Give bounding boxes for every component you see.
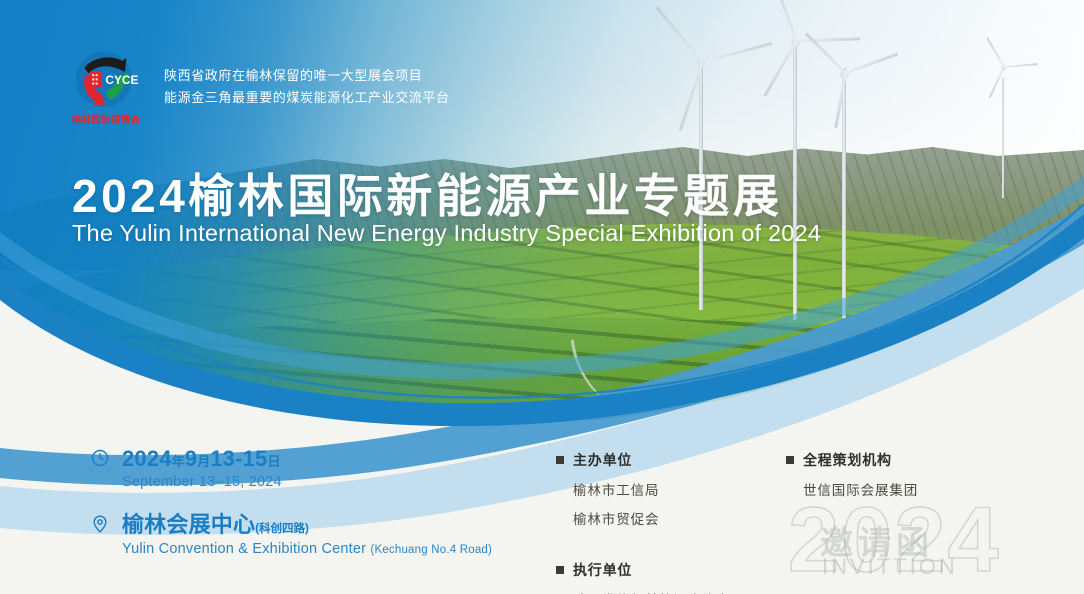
org-group: 主办单位 榆林市工信局 榆林市贸促会 bbox=[556, 450, 766, 528]
org-group: 全程策划机构 世信国际会展集团 bbox=[786, 450, 1006, 499]
org-item: 世信国际会展集团 bbox=[803, 479, 1006, 499]
taglines: 陕西省政府在榆林保留的唯一大型展会项目 能源金三角最重要的煤炭能源化工产业交流平… bbox=[164, 64, 450, 107]
org-item: 陕西世信朗普能源咨询有限公司 bbox=[573, 589, 766, 594]
date-year: 2024 bbox=[122, 446, 172, 471]
org-column-planner: 全程策划机构 世信国际会展集团 bbox=[786, 450, 1006, 499]
logo-sub-label: 榆林国际煤博会 bbox=[66, 112, 146, 126]
org-column-organizers: 主办单位 榆林市工信局 榆林市贸促会 执行单位 陕西世信朗普能源咨询有限公司 bbox=[556, 450, 766, 594]
clock-icon bbox=[90, 448, 110, 468]
org-group: 执行单位 陕西世信朗普能源咨询有限公司 bbox=[556, 560, 766, 594]
cyce-logo: CYCE 榆林国际煤博会 bbox=[66, 44, 148, 126]
venue-text: 榆林会展中心(科创四路) Yulin Convention & Exhibiti… bbox=[122, 512, 492, 556]
org-item: 榆林市贸促会 bbox=[573, 508, 766, 528]
venue-name-cn: 榆林会展中心 bbox=[122, 512, 255, 537]
date-days: 13-15 bbox=[210, 446, 267, 471]
org-heading-label: 执行单位 bbox=[573, 560, 632, 580]
org-heading: 主办单位 bbox=[556, 450, 766, 470]
org-heading: 全程策划机构 bbox=[786, 450, 1006, 470]
org-heading-label: 主办单位 bbox=[573, 450, 632, 470]
date-year-unit: 年 bbox=[172, 454, 185, 469]
venue-block: 榆林会展中心(科创四路) Yulin Convention & Exhibiti… bbox=[90, 512, 450, 556]
svg-text:CYCE: CYCE bbox=[105, 73, 138, 87]
venue-addr-cn: (科创四路) bbox=[255, 523, 309, 535]
square-bullet-icon bbox=[786, 456, 794, 464]
date-month-unit: 月 bbox=[197, 454, 210, 469]
cyce-emblem-icon: CYCE bbox=[69, 44, 139, 114]
header-row: CYCE 榆林国际煤博会 陕西省政府在榆林保留的唯一大型展会项目 能源金三角最重… bbox=[66, 44, 450, 126]
venue-cn: 榆林会展中心(科创四路) bbox=[122, 512, 492, 537]
tagline-2: 能源金三角最重要的煤炭能源化工产业交流平台 bbox=[164, 90, 450, 107]
main-title-cn: 2024榆林国际新能源产业专题展 bbox=[72, 160, 782, 226]
date-day-unit: 日 bbox=[268, 454, 281, 469]
org-heading: 执行单位 bbox=[556, 560, 766, 580]
venue-name-en: Yulin Convention & Exhibition Center bbox=[122, 541, 366, 557]
venue-en: Yulin Convention & Exhibition Center (Ke… bbox=[122, 541, 492, 557]
org-heading-label: 全程策划机构 bbox=[803, 450, 892, 470]
main-title-en: The Yulin International New Energy Indus… bbox=[72, 220, 821, 247]
poster-canvas: CYCE 榆林国际煤博会 陕西省政府在榆林保留的唯一大型展会项目 能源金三角最重… bbox=[0, 0, 1084, 594]
date-cn: 2024年9月13-15日 bbox=[122, 446, 450, 471]
date-block: 2024年9月13-15日 September 13–15, 2024 bbox=[90, 446, 450, 490]
square-bullet-icon bbox=[556, 566, 564, 574]
org-item: 榆林市工信局 bbox=[573, 479, 766, 499]
venue-addr-en: (Kechuang No.4 Road) bbox=[370, 544, 492, 556]
date-month: 9 bbox=[185, 446, 197, 471]
location-pin-icon bbox=[90, 514, 110, 534]
date-text: 2024年9月13-15日 September 13–15, 2024 bbox=[122, 446, 450, 490]
square-bullet-icon bbox=[556, 456, 564, 464]
tagline-1: 陕西省政府在榆林保留的唯一大型展会项目 bbox=[164, 68, 450, 85]
event-details: 2024年9月13-15日 September 13–15, 2024 榆林会展… bbox=[90, 446, 450, 557]
date-en: September 13–15, 2024 bbox=[122, 474, 450, 490]
